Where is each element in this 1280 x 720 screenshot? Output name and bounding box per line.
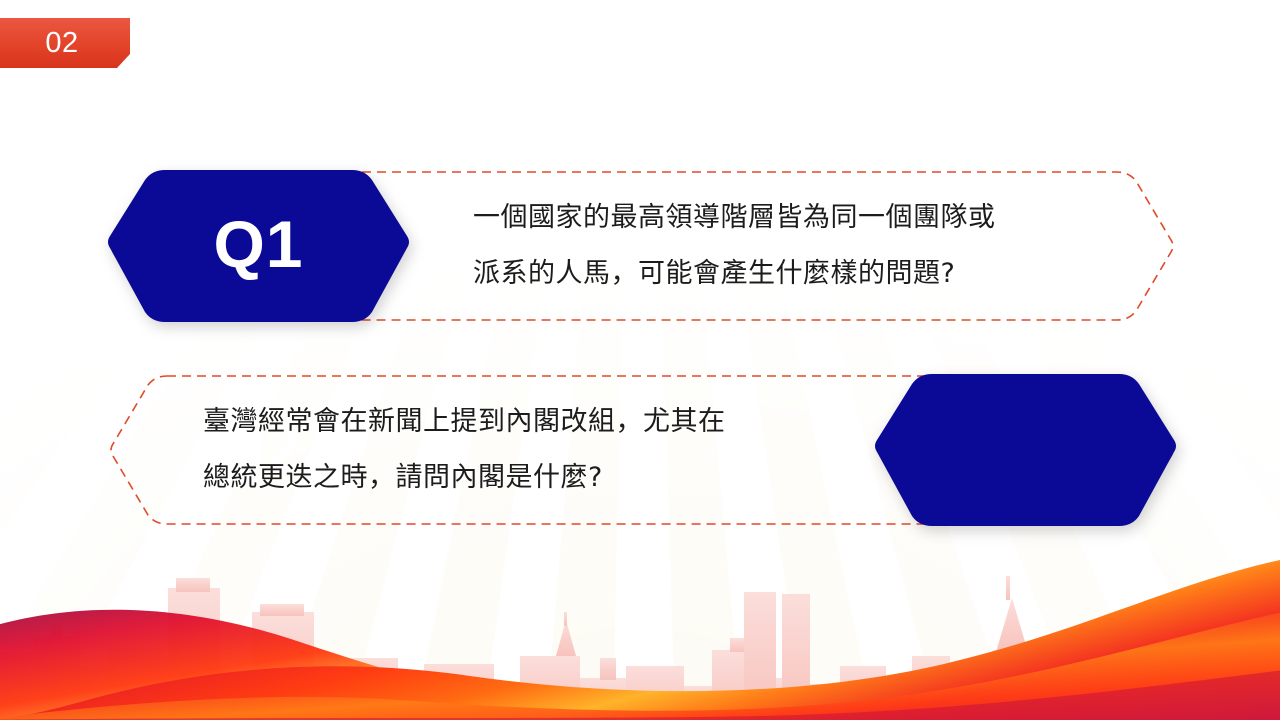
section-number-label: 02	[45, 29, 84, 58]
question-tag-label-1: Q1	[107, 170, 410, 322]
question-text-2: 臺灣經常會在新聞上提到內閣改組，尤其在 總統更迭之時，請問內閣是什麼?	[203, 394, 863, 506]
question-row-1: Q1 一個國家的最高領導階層皆為同一個團隊或 派系的人馬，可能會產生什麼樣的問題…	[107, 170, 1177, 322]
city-skyline-decoration	[0, 560, 1280, 720]
section-number-badge: 02	[0, 18, 130, 68]
question-text-1: 一個國家的最高領導階層皆為同一個團隊或 派系的人馬，可能會產生什麼樣的問題?	[473, 190, 1133, 302]
question-tag-hexagon-2	[874, 374, 1177, 526]
silk-ribbon-decoration	[0, 550, 1280, 720]
slide-canvas: Q1 一個國家的最高領導階層皆為同一個團隊或 派系的人馬，可能會產生什麼樣的問題…	[0, 0, 1280, 720]
question-row-2: Q2 臺灣經常會在新聞上提到內閣改組，尤其在 總統更迭之時，請問內閣是什麼?	[107, 374, 1177, 526]
rays-fade-overlay	[0, 0, 1280, 720]
radial-rays-background	[0, 0, 1280, 720]
